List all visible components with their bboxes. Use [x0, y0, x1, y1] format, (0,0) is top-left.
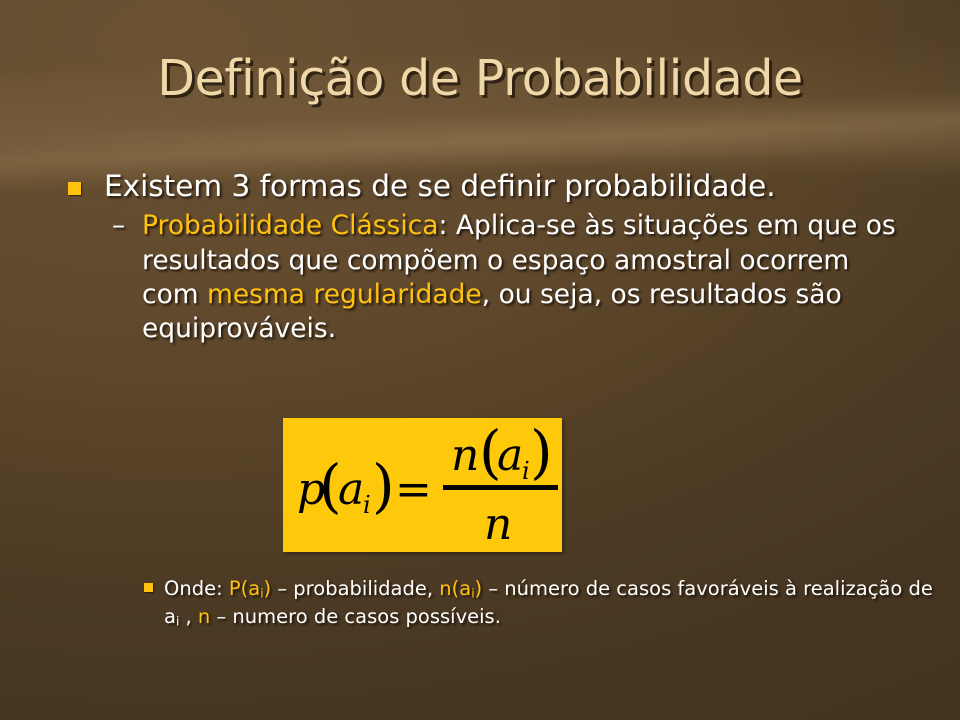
- legend-text-3: ,: [179, 605, 198, 628]
- square-bullet-icon-small: [144, 583, 153, 592]
- bullet-level1: Existem 3 formas de se definir probabili…: [60, 168, 910, 205]
- legend-symbol-p: P(ai): [229, 577, 271, 600]
- term-probabilidade-classica: Probabilidade Clássica: [142, 210, 439, 241]
- formula-equals: =: [395, 464, 432, 515]
- slide-canvas: Definição de Probabilidade Existem 3 for…: [0, 0, 960, 720]
- legend-text-2: – número de casos favoráveis à realizaçã…: [482, 577, 933, 600]
- legend-text-4: – numero de casos possíveis.: [210, 605, 501, 628]
- formula-image: p ( a i ) = n ( a i ) n: [283, 418, 562, 552]
- bullet-level2: –Probabilidade Clássica: Aplica-se às si…: [60, 209, 910, 347]
- formula-numerator-close-paren: ): [530, 418, 553, 486]
- formula-fraction-bar: [443, 485, 558, 490]
- dash-bullet-icon: –: [112, 209, 125, 243]
- formula-lhs-arg: a: [338, 464, 364, 515]
- slide-body: Existem 3 formas de se definir probabili…: [60, 168, 910, 347]
- formula-lhs-close-paren: ): [372, 452, 395, 520]
- formula-denominator: n: [484, 499, 512, 550]
- formula-legend: Onde: P(ai) – probabilidade, n(ai) – núm…: [142, 575, 954, 630]
- formula-numerator-fn: n: [451, 430, 479, 481]
- formula-numerator-sub: i: [522, 457, 530, 485]
- term-mesma-regularidade: mesma regularidade: [207, 279, 482, 310]
- formula-numerator-arg: a: [497, 430, 523, 481]
- square-bullet-icon: [68, 182, 81, 195]
- bullet-level1-text: Existem 3 formas de se definir probabili…: [104, 169, 776, 203]
- legend-symbol-n-of-ai: n(ai): [439, 577, 482, 600]
- formula-lhs-sub: i: [363, 491, 371, 519]
- page-title: Definição de Probabilidade: [0, 53, 960, 106]
- formula-svg: p ( a i ) = n ( a i ) n: [283, 418, 562, 552]
- legend-symbol-n: n: [198, 605, 210, 628]
- legend-label: Onde:: [164, 577, 229, 600]
- legend-symbol-ai: ai: [164, 605, 179, 628]
- legend-text-1: – probabilidade,: [271, 577, 439, 600]
